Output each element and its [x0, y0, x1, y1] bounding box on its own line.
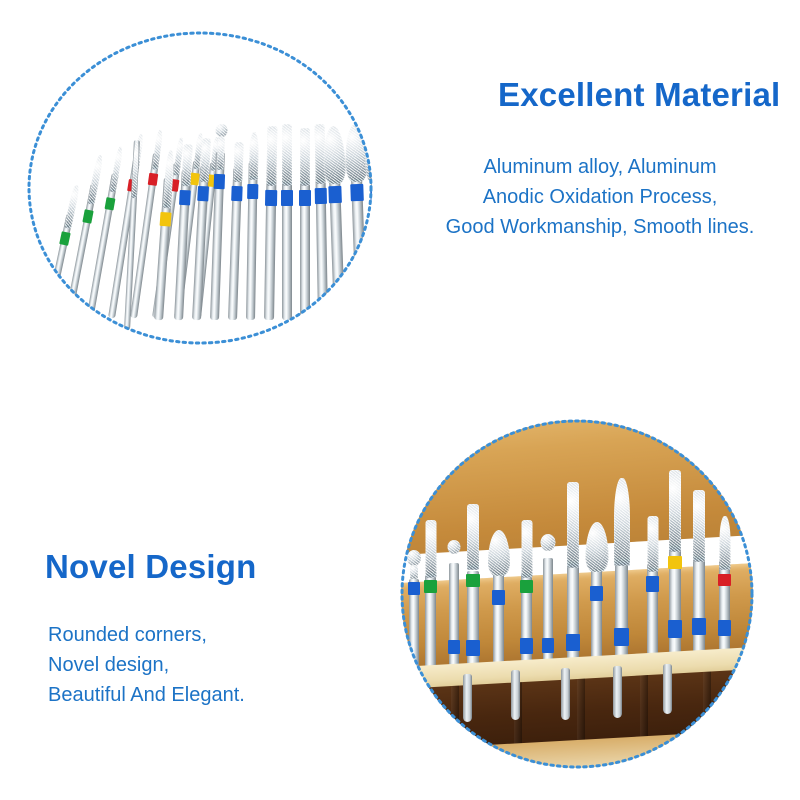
slot-rib [451, 686, 459, 756]
slot-rib [640, 675, 648, 745]
bur-head [719, 516, 730, 570]
bur-head [87, 154, 103, 204]
bur-head [425, 520, 436, 578]
bur-needle-green-1 [42, 185, 80, 331]
bur-head [647, 516, 658, 572]
excellent-material-heading: Excellent Material [498, 76, 780, 114]
bur-color-band [281, 190, 293, 206]
bur-upright-4 [467, 504, 479, 679]
bur-color-band [520, 580, 533, 593]
bur-head [64, 185, 80, 229]
bur-upright-3 [449, 540, 459, 675]
bur-color-band [408, 582, 420, 595]
bur-head [567, 482, 579, 568]
bur-head [109, 146, 123, 192]
bur-color-band [370, 186, 372, 204]
bur-upright-1 [409, 550, 419, 675]
bur-head [614, 478, 630, 566]
bur-color-band [265, 190, 277, 206]
bur-color-band [105, 197, 116, 210]
bur-color-band [542, 638, 554, 653]
marketing-banner: Excellent Material Aluminum alloy, Alumi… [0, 0, 800, 800]
bur-upright-round-1 [543, 534, 553, 676]
bur-upright-6 [567, 482, 579, 678]
slot-rib [703, 672, 711, 742]
bur-color-band [214, 174, 226, 189]
bur-head [151, 129, 163, 169]
bur-color-band [350, 184, 364, 201]
bur-color-band [692, 618, 706, 635]
bur-color-band [160, 212, 172, 227]
bur-blue-3 [228, 142, 243, 320]
bur-shank-stub [463, 674, 472, 722]
bur-blue-6 [282, 124, 292, 320]
bur-color-band [448, 640, 460, 654]
bur-color-band [718, 574, 731, 586]
bur-head [248, 132, 258, 180]
bur-head [693, 490, 705, 562]
bur-head [448, 540, 461, 554]
bur-head-neck [216, 136, 224, 170]
bur-color-band [315, 188, 327, 204]
bur-color-band [179, 190, 191, 206]
bur-color-band [614, 628, 629, 646]
bur-color-band [82, 209, 93, 223]
bur-shaft [449, 563, 459, 675]
bur-head [266, 126, 277, 186]
bur-color-band [466, 574, 480, 587]
bur-color-band [148, 173, 159, 186]
bur-upright-5 [521, 520, 532, 677]
bur-flame-1 [327, 130, 345, 320]
excellent-material-body: Aluminum alloy, Aluminum Anodic Oxidatio… [420, 152, 780, 242]
bur-color-band [299, 190, 311, 206]
bur-color-band-2 [520, 638, 533, 654]
bur-color-band [590, 586, 603, 601]
bur-head [282, 124, 292, 186]
bur-blue-4 [246, 132, 258, 320]
bur-flame-3 [368, 132, 372, 320]
bur-blue-7 [300, 128, 310, 320]
bur-color-band [197, 186, 209, 202]
bur-head [541, 534, 556, 551]
bur-color-band [566, 634, 580, 651]
bur-shank-stub [663, 664, 672, 714]
bur-upright-2 [425, 520, 436, 675]
bur-color-band [247, 184, 258, 199]
novel-design-heading: Novel Design [45, 548, 256, 586]
bur-color-band-2 [466, 640, 480, 656]
bur-color-band [231, 186, 243, 201]
bur-color-band [59, 231, 71, 246]
bur-shank-stub [613, 666, 622, 718]
bur-upright-9 [669, 470, 681, 678]
bur-head [300, 128, 310, 186]
bur-upright-7 [615, 478, 628, 678]
bur-head [322, 126, 346, 185]
bur-blue-5 [264, 126, 277, 320]
burs-on-white-scene [28, 32, 372, 344]
bur-head-neck [410, 565, 418, 579]
bur-upright-flame-1 [493, 532, 504, 677]
bur-needle-green-2 [64, 154, 103, 322]
bur-color-band-2 [718, 620, 731, 636]
slot-rib [577, 679, 585, 749]
bur-head [521, 520, 532, 578]
bur-head [467, 504, 479, 570]
bur-upright-flame-2 [591, 524, 602, 677]
bur-head [407, 550, 421, 566]
bur-color-band [328, 186, 342, 203]
bur-color-band [424, 580, 437, 593]
top-left-photo [28, 32, 372, 344]
novel-design-body: Rounded corners, Novel design, Beautiful… [48, 620, 378, 710]
bur-color-band [646, 576, 659, 592]
bur-color-band [492, 590, 505, 605]
bur-shank-stub [561, 668, 570, 720]
bur-shank-stub [511, 670, 520, 720]
bur-head [233, 142, 243, 182]
bur-color-band [668, 556, 682, 569]
bur-head [669, 470, 681, 552]
bur-color-band-2 [668, 620, 682, 638]
bottom-right-photo [401, 420, 753, 768]
bur-upright-10 [693, 490, 705, 676]
bur-block-scene [401, 420, 753, 768]
